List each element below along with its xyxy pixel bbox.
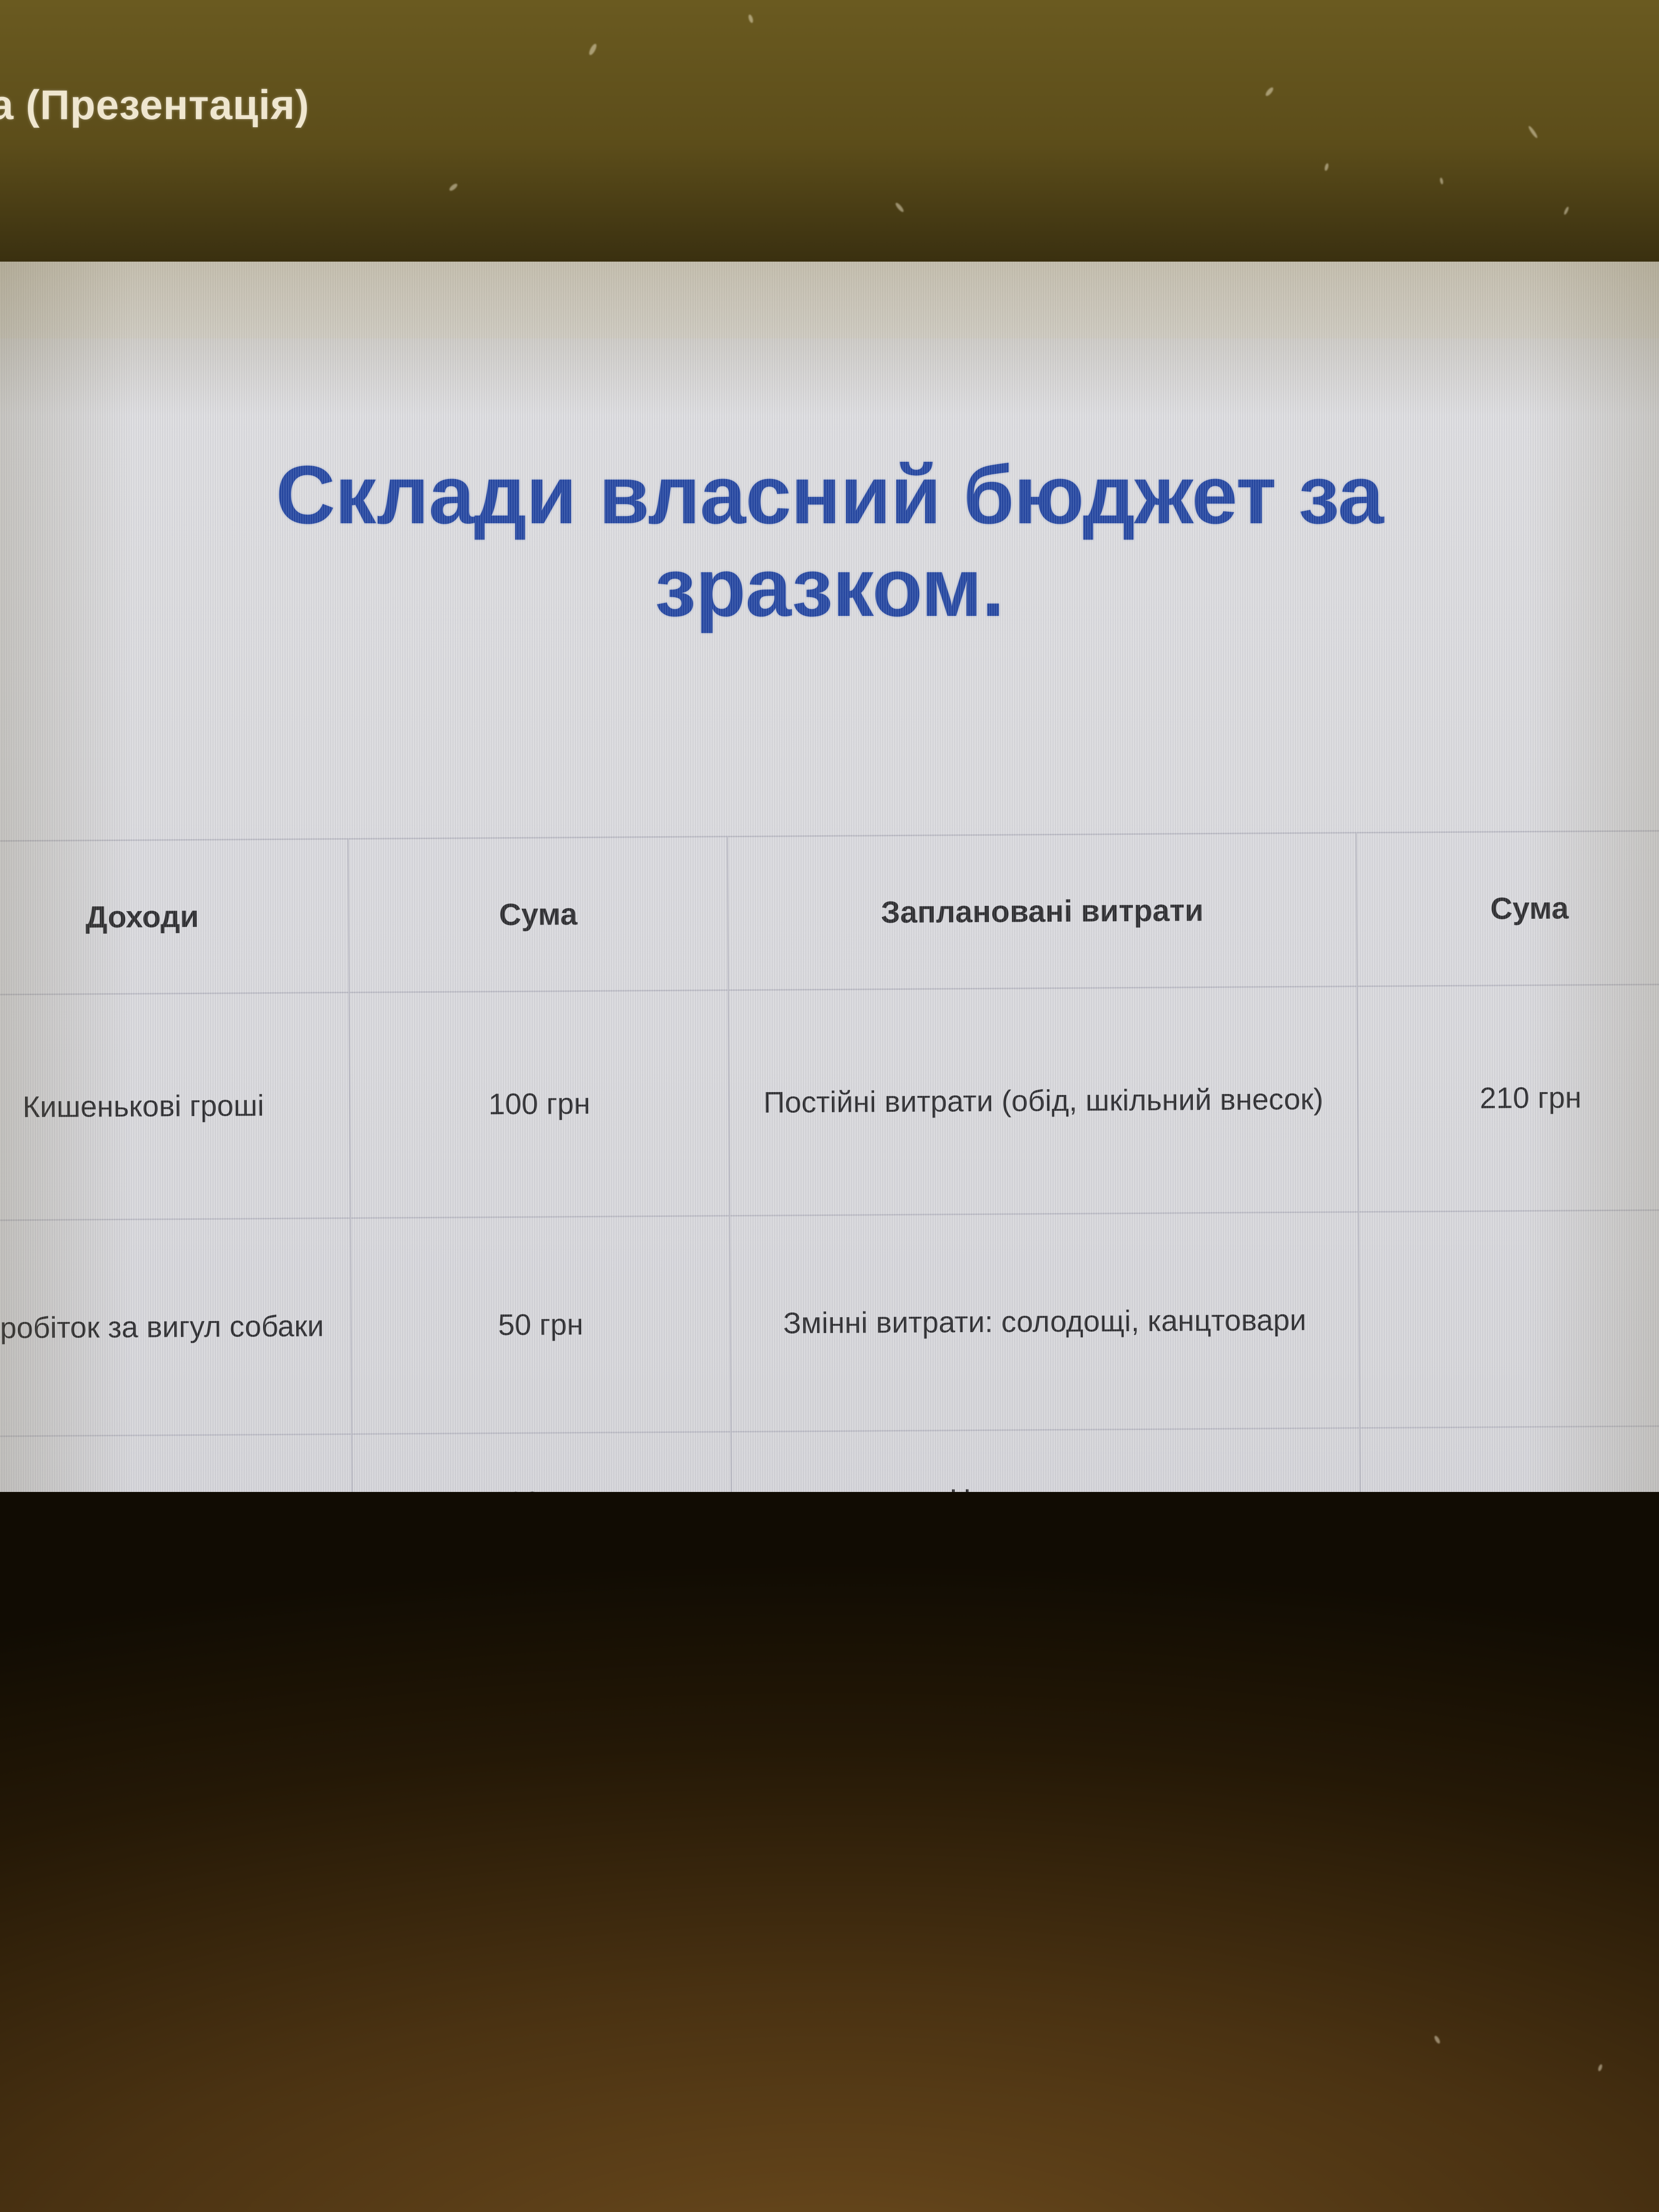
cell-income-sum: 100 грн <box>349 990 730 1218</box>
bottom-ambient-glow <box>0 1492 1659 2212</box>
column-header-income-sum: Сума <box>348 837 728 993</box>
meeting-window-title: а (Презентація) <box>0 82 309 129</box>
cell-income: Заробіток за вигул собаки <box>0 1218 352 1436</box>
slide-title-line-1: Склади власний бюджет за <box>276 449 1383 541</box>
column-header-incomes: Доходи <box>0 839 349 995</box>
table-row: Кишенькові гроші 100 грн Постійні витрат… <box>0 984 1659 1220</box>
powerpoint-app-strip <box>0 262 1659 338</box>
table-row: Заробіток за вигул собаки 50 грн Змінні … <box>0 1210 1659 1436</box>
column-header-planned-costs: Заплановані витрати <box>727 833 1357 990</box>
cell-expense-sum: 210 грн <box>1357 984 1659 1212</box>
cell-income-sum: 50 грн <box>350 1216 731 1434</box>
cell-expense: Постійні витрати (обід, шкільний внесок) <box>728 986 1358 1216</box>
slide-title: Склади власний бюджет за зразком. <box>0 449 1659 634</box>
table-header-row: Доходи Сума Заплановані витрати Сума <box>0 830 1659 995</box>
slide-title-line-2: зразком. <box>14 541 1645 634</box>
column-header-cost-sum: Сума <box>1356 830 1659 986</box>
cell-income: Кишенькові гроші <box>0 992 350 1220</box>
cell-expense-sum <box>1358 1210 1659 1428</box>
cell-expense: Змінні витрати: солодощі, канцтовари <box>730 1212 1360 1432</box>
meeting-window-titlebar: а (Презентація) <box>0 0 1659 262</box>
photo-of-laptop-screen: а (Презентація) t PowerPoint Склади влас… <box>0 0 1659 2212</box>
